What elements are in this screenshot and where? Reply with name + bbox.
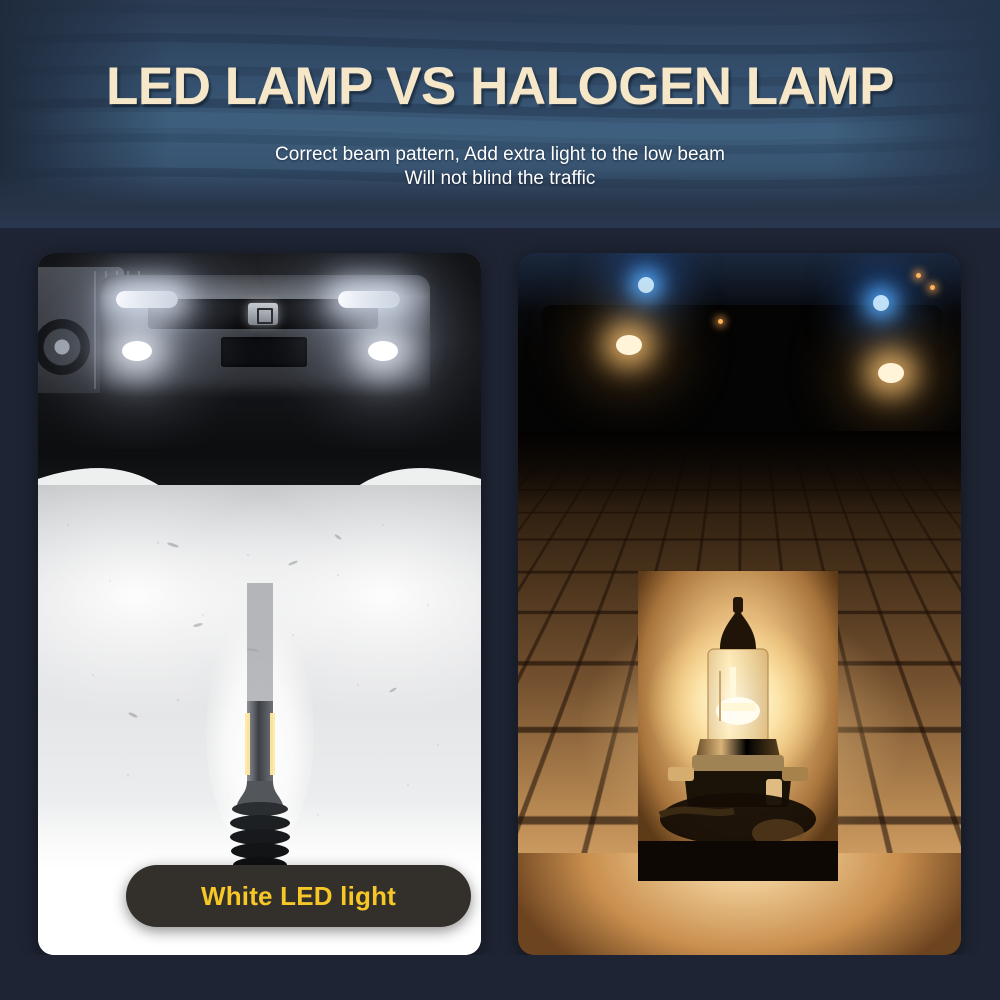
pavement-top-shadow [518,431,961,511]
led-headlight-left [116,291,178,308]
subtitle-line-1: Correct beam pattern, Add extra light to… [0,143,1000,167]
blue-accent-light-right [873,295,889,311]
halogen-foglight-right [878,363,904,383]
halogen-bulb-illustration [638,571,838,881]
halogen-foglight-left [616,335,642,355]
amber-marker-light-2 [916,273,921,278]
amber-marker-light-3 [930,285,935,290]
led-bulb-illustration [206,583,314,883]
led-foglight-right [368,341,398,361]
led-label-badge[interactable]: White LED light [126,865,471,927]
footer-area [0,955,1000,1000]
led-foglight-left [122,341,152,361]
halogen-car-photo [518,253,961,459]
night-sky-glow [518,253,961,313]
page-title: LED LAMP VS HALOGEN LAMP [0,56,1000,117]
header-banner: LED LAMP VS HALOGEN LAMP Correct beam pa… [0,0,1000,228]
led-car-photo [38,253,481,449]
license-plate-holder [221,337,307,367]
honda-emblem [248,303,278,325]
page-subtitle: Correct beam pattern, Add extra light to… [0,143,1000,191]
poster-stage: LED LAMP VS HALOGEN LAMP Correct beam pa… [0,0,1000,1000]
led-label-text: White LED light [201,881,396,912]
amber-marker-light-1 [718,319,723,324]
led-comparison-panel[interactable]: White LED light [38,253,481,955]
halogen-comparison-panel[interactable]: yellow halogen lamp [518,253,961,955]
blue-accent-light-left [638,277,654,293]
led-headlight-right [338,291,400,308]
subtitle-line-2: Will not blind the traffic [0,167,1000,191]
